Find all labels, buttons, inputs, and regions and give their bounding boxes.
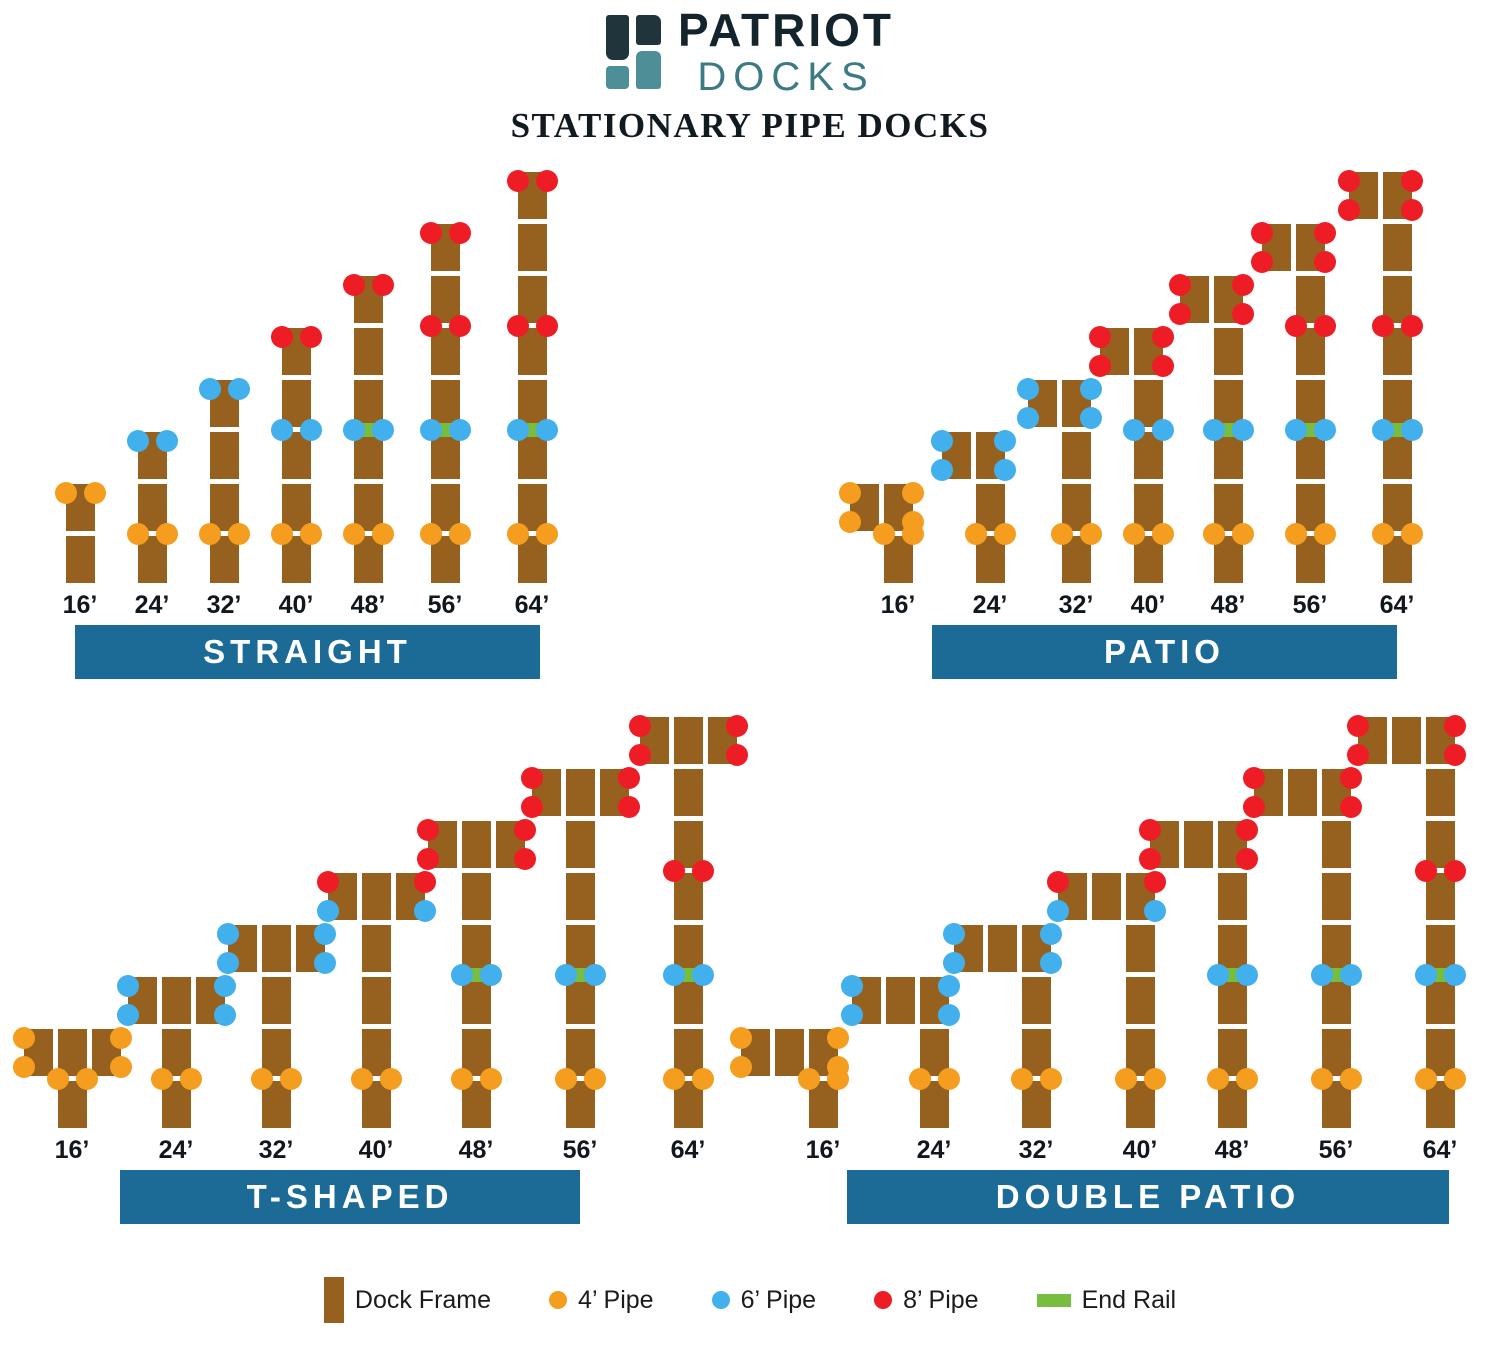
page-title: STATIONARY PIPE DOCKS (0, 106, 1500, 146)
dock-size-label: 24’ (159, 1136, 194, 1165)
dock-size-label: 64’ (1380, 591, 1415, 620)
pipe-marker-8ft (1338, 170, 1360, 192)
size-label-row: 16’24’32’40’48’56’64’ (0, 1136, 750, 1170)
pipe-marker-4ft (1444, 1068, 1466, 1090)
dock-size-label: 16’ (881, 591, 916, 620)
dock-panel-patio: 16’24’32’40’48’56’64’PATIO (750, 163, 1500, 708)
dock-size-label: 32’ (207, 591, 242, 620)
dock-diagram-area (750, 163, 1500, 583)
pipe-marker-4ft (730, 1027, 752, 1049)
pipe-marker-8ft (1372, 315, 1394, 337)
pipe-marker-8ft (536, 170, 558, 192)
dock-size-label: 56’ (1319, 1136, 1354, 1165)
pipe-marker-6ft (663, 964, 685, 986)
pipe-marker-8ft (726, 715, 748, 737)
pipe-marker-8ft (1444, 744, 1466, 766)
brand-name-primary: PATRIOT (678, 7, 894, 53)
pipe-marker-4ft (692, 1068, 714, 1090)
pipe-marker-8ft (663, 860, 685, 882)
panel-banner-patio[interactable]: PATIO (932, 625, 1397, 679)
panel-banner-t-shaped[interactable]: T-SHAPED (120, 1170, 580, 1224)
dock-size-label: 48’ (1215, 1136, 1250, 1165)
pipe-marker-6ft (1372, 419, 1394, 441)
dock-size-label: 16’ (55, 1136, 90, 1165)
legend-item: 8’ Pipe (874, 1286, 979, 1315)
panel-banner-straight[interactable]: STRAIGHT (75, 625, 540, 679)
dock-diagram-area (750, 708, 1500, 1128)
dock-size-label: 32’ (259, 1136, 294, 1165)
pipe-marker-4ft (507, 523, 529, 545)
pipe-marker-6ft (536, 419, 558, 441)
pipe-marker-4ft (1401, 523, 1423, 545)
dot-swatch-icon (549, 1291, 567, 1309)
pipe-marker-6ft (1444, 964, 1466, 986)
legend-item-label: Dock Frame (355, 1286, 491, 1315)
pipe-marker-4ft (1415, 1068, 1437, 1090)
dock-size-label: 16’ (63, 591, 98, 620)
pipe-marker-8ft (536, 315, 558, 337)
dock-size-label: 40’ (279, 591, 314, 620)
dot-swatch-icon (874, 1291, 892, 1309)
dock-column[interactable] (0, 708, 750, 1128)
pipe-marker-4ft (663, 1068, 685, 1090)
pipe-marker-8ft (1401, 199, 1423, 221)
dock-size-label: 32’ (1059, 591, 1094, 620)
dock-column[interactable] (0, 163, 750, 583)
pipe-marker-8ft (1415, 860, 1437, 882)
dock-diagram-area (0, 163, 750, 583)
pipe-marker-4ft (536, 523, 558, 545)
pipe-marker-8ft (1338, 199, 1360, 221)
pipe-marker-8ft (629, 744, 651, 766)
dock-size-label: 40’ (359, 1136, 394, 1165)
legend-item: 4’ Pipe (549, 1286, 654, 1315)
dock-frame-section (1426, 769, 1455, 816)
pipe-marker-8ft (1444, 715, 1466, 737)
pipe-marker-8ft (726, 744, 748, 766)
pipe-marker-8ft (1444, 860, 1466, 882)
panel-banner-label: PATIO (1104, 633, 1225, 671)
dock-size-label: 48’ (351, 591, 386, 620)
dock-size-label: 40’ (1131, 591, 1166, 620)
dock-size-label: 24’ (135, 591, 170, 620)
legend: Dock Frame4’ Pipe6’ Pipe8’ PipeEnd Rail (0, 1270, 1500, 1330)
dock-size-label: 56’ (563, 1136, 598, 1165)
dock-size-label: 64’ (671, 1136, 706, 1165)
pipe-marker-4ft (1372, 523, 1394, 545)
pipe-marker-6ft (507, 419, 529, 441)
dock-column[interactable] (750, 708, 1500, 1128)
dock-size-label: 16’ (806, 1136, 841, 1165)
dock-size-label: 64’ (1423, 1136, 1458, 1165)
brand-logo: PATRIOT DOCKS (0, 10, 1500, 94)
pipe-marker-6ft (692, 964, 714, 986)
frame-swatch-icon (324, 1277, 344, 1323)
legend-item-label: 6’ Pipe (741, 1286, 817, 1315)
pipe-marker-8ft (629, 715, 651, 737)
dock-size-label: 48’ (459, 1136, 494, 1165)
pipe-marker-4ft (730, 1056, 752, 1078)
dock-size-label: 48’ (1211, 591, 1246, 620)
dock-size-label: 40’ (1123, 1136, 1158, 1165)
dock-frame-section (674, 717, 703, 764)
patriot-docks-logo-icon (606, 15, 662, 89)
dock-size-label: 32’ (1019, 1136, 1054, 1165)
pipe-marker-6ft (1415, 964, 1437, 986)
size-label-row: 16’24’32’40’48’56’64’ (750, 591, 1500, 625)
legend-item-label: 4’ Pipe (578, 1286, 654, 1315)
legend-item: 6’ Pipe (712, 1286, 817, 1315)
dock-frame-section (674, 769, 703, 816)
dock-size-label: 24’ (973, 591, 1008, 620)
panel-banner-label: STRAIGHT (203, 633, 412, 671)
dock-frame-section (1383, 224, 1412, 271)
dock-panel-double-patio: 16’24’32’40’48’56’64’DOUBLE PATIO (750, 708, 1500, 1253)
panel-banner-label: T-SHAPED (247, 1178, 454, 1216)
pipe-marker-8ft (507, 315, 529, 337)
patio-section (1392, 717, 1421, 764)
page-header: PATRIOT DOCKS STATIONARY PIPE DOCKS (0, 0, 1500, 146)
dock-size-label: 24’ (917, 1136, 952, 1165)
rail-swatch-icon (1037, 1294, 1071, 1307)
dock-size-label: 56’ (1293, 591, 1328, 620)
brand-name-secondary: DOCKS (678, 57, 894, 97)
pipe-marker-8ft (1401, 315, 1423, 337)
pipe-marker-8ft (1401, 170, 1423, 192)
brand-wordmark: PATRIOT DOCKS (678, 7, 894, 97)
pipe-marker-8ft (507, 170, 529, 192)
dock-column[interactable] (750, 163, 1500, 583)
legend-item-label: End Rail (1082, 1286, 1177, 1315)
panel-banner-double-patio[interactable]: DOUBLE PATIO (847, 1170, 1449, 1224)
size-label-row: 16’24’32’40’48’56’64’ (750, 1136, 1500, 1170)
dock-panel-t-shaped: 16’24’32’40’48’56’64’T-SHAPED (0, 708, 750, 1253)
panel-banner-label: DOUBLE PATIO (996, 1178, 1300, 1216)
pipe-marker-6ft (1401, 419, 1423, 441)
dock-configuration-panels: 16’24’32’40’48’56’64’STRAIGHT16’24’32’40… (0, 163, 1500, 1253)
pipe-marker-8ft (1347, 744, 1369, 766)
size-label-row: 16’24’32’40’48’56’64’ (0, 591, 750, 625)
dock-frame-section (518, 224, 547, 271)
pipe-marker-8ft (1347, 715, 1369, 737)
pipe-marker-8ft (692, 860, 714, 882)
dot-swatch-icon (712, 1291, 730, 1309)
legend-item: End Rail (1037, 1286, 1177, 1315)
dock-size-label: 56’ (428, 591, 463, 620)
legend-item: Dock Frame (324, 1277, 491, 1323)
legend-item-label: 8’ Pipe (903, 1286, 979, 1315)
dock-diagram-area (0, 708, 750, 1128)
dock-size-label: 64’ (515, 591, 550, 620)
dock-panel-straight: 16’24’32’40’48’56’64’STRAIGHT (0, 163, 750, 708)
